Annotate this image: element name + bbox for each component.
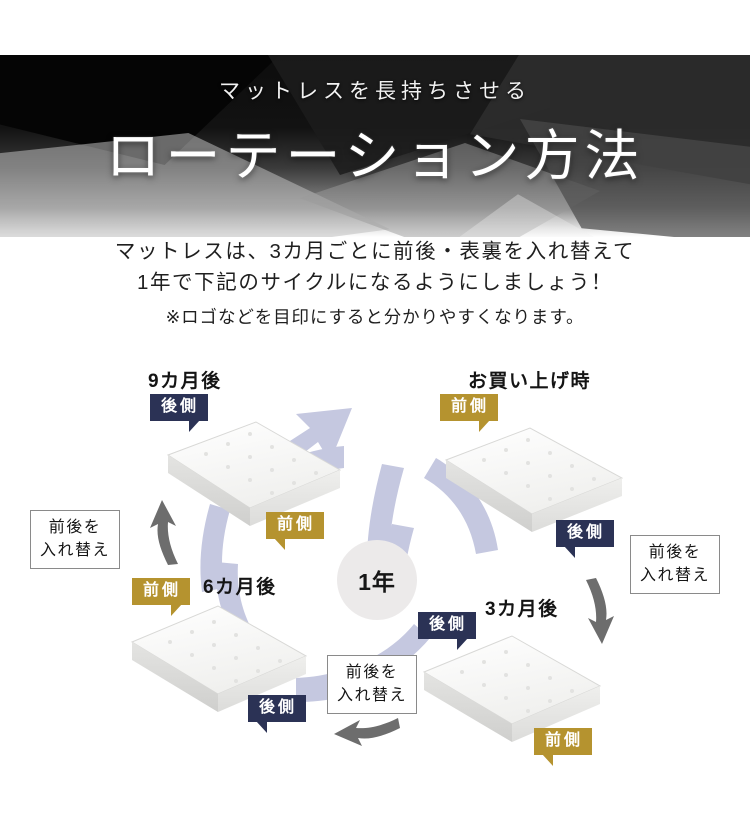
- arrow-left-bottom: [334, 718, 400, 746]
- swap-note-line-2: 入れ替え: [640, 564, 710, 587]
- badge-label: 前側: [451, 398, 489, 415]
- swap-note-bottom: 前後を 入れ替え: [327, 655, 417, 714]
- swap-note-line-1: 前後を: [40, 516, 110, 539]
- stage-title-three-months: 3カ月後: [485, 594, 559, 621]
- cycle-center-label: 1年: [337, 540, 417, 620]
- intro-note: ※ロゴなどを目印にすると分かりやすくなります。: [0, 302, 750, 333]
- badge-tail-icon: [171, 604, 182, 616]
- arrow-up-left: [150, 500, 178, 565]
- badge-tail-icon: [256, 721, 267, 733]
- badge-label: 後側: [161, 398, 199, 415]
- badge-label: 前側: [143, 582, 181, 599]
- intro-text: マットレスは、3カ月ごとに前後・表裏を入れ替えて 1年で下記のサイクルになるよう…: [0, 236, 750, 333]
- badge-tail-icon: [274, 538, 285, 550]
- badge-purchase-front: 前側: [440, 394, 498, 421]
- badge-label: 後側: [429, 616, 467, 633]
- badge-tail-icon: [189, 420, 200, 432]
- arrow-down-right: [586, 578, 614, 644]
- badge-label: 前側: [545, 732, 583, 749]
- stage-title-nine-months: 9カ月後: [148, 366, 222, 393]
- badge-tail-icon: [479, 420, 490, 432]
- swap-note-line-1: 前後を: [640, 541, 710, 564]
- badge-nine-months-front: 前側: [266, 512, 324, 539]
- swap-note-line-2: 入れ替え: [40, 539, 110, 562]
- page-title: ローテーション方法: [0, 128, 750, 186]
- badge-label: 後側: [259, 699, 297, 716]
- swap-note-line-1: 前後を: [337, 661, 407, 684]
- badge-tail-icon: [542, 754, 553, 766]
- hero-banner: マットレスを長持ちさせる ローテーション方法: [0, 55, 750, 237]
- badge-tail-icon: [564, 546, 575, 558]
- intro-line-1: マットレスは、3カ月ごとに前後・表裏を入れ替えて: [0, 236, 750, 267]
- badge-purchase-back: 後側: [556, 520, 614, 547]
- stage-title-purchase: お買い上げ時: [468, 366, 591, 393]
- intro-line-2: 1年で下記のサイクルになるようにしましょう！: [0, 267, 750, 298]
- badge-three-months-back: 後側: [418, 612, 476, 639]
- badge-six-months-front: 前側: [132, 578, 190, 605]
- rotation-cycle-diagram: 9カ月後 お買い上げ時 3カ月後 6カ月後 後側 前側 前側 後側 後側 前側: [0, 350, 750, 817]
- swap-note-left: 前後を 入れ替え: [30, 510, 120, 569]
- mattress-three-months: [424, 636, 600, 742]
- infographic-page: マットレスを長持ちさせる ローテーション方法 マットレスは、3カ月ごとに前後・表…: [0, 0, 750, 817]
- badge-tail-icon: [457, 638, 468, 650]
- badge-nine-months-back: 後側: [150, 394, 208, 421]
- swap-note-line-2: 入れ替え: [337, 684, 407, 707]
- badge-three-months-front: 前側: [534, 728, 592, 755]
- hero-subtitle: マットレスを長持ちさせる: [0, 75, 750, 105]
- badge-six-months-back: 後側: [248, 695, 306, 722]
- badge-label: 後側: [567, 524, 605, 541]
- stage-title-six-months: 6カ月後: [203, 572, 277, 599]
- swap-note-right: 前後を 入れ替え: [630, 535, 720, 594]
- badge-label: 前側: [277, 516, 315, 533]
